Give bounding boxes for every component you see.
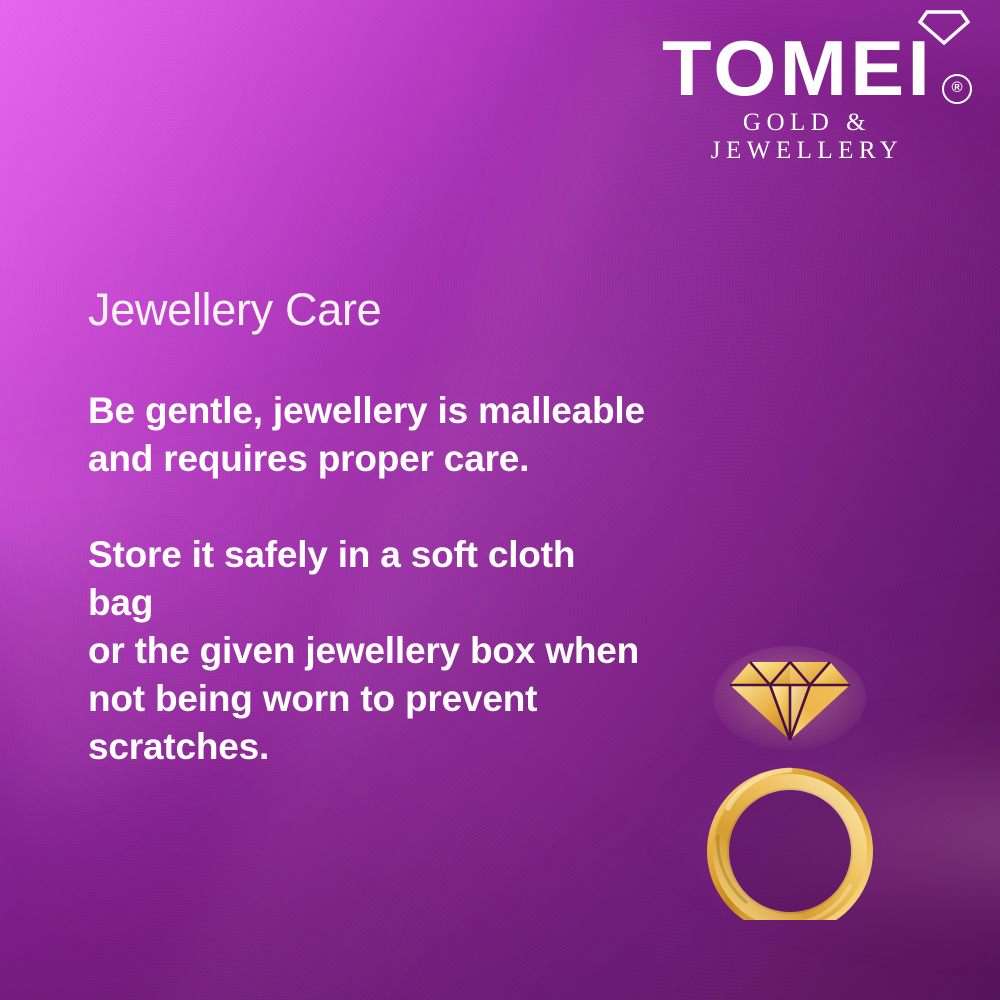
- gold-diamond-ring-illustration: [690, 640, 890, 920]
- poster-canvas: TOMEI ® GOLD & JEWELLERY Jewellery Care …: [0, 0, 1000, 1000]
- ring-band-icon: [707, 768, 873, 920]
- care-paragraph-2: Store it safely in a soft cloth bag or t…: [88, 531, 648, 771]
- registered-trademark-icon: ®: [942, 74, 972, 104]
- care-paragraph-1: Be gentle, jewellery is malleable and re…: [88, 387, 648, 483]
- brand-tagline: GOLD & JEWELLERY: [644, 109, 974, 165]
- brand-logo: TOMEI ® GOLD & JEWELLERY: [644, 6, 974, 165]
- brand-wordmark: TOMEI: [637, 6, 980, 105]
- page-title: Jewellery Care: [88, 286, 648, 335]
- copy-block: Jewellery Care Be gentle, jewellery is m…: [88, 286, 648, 771]
